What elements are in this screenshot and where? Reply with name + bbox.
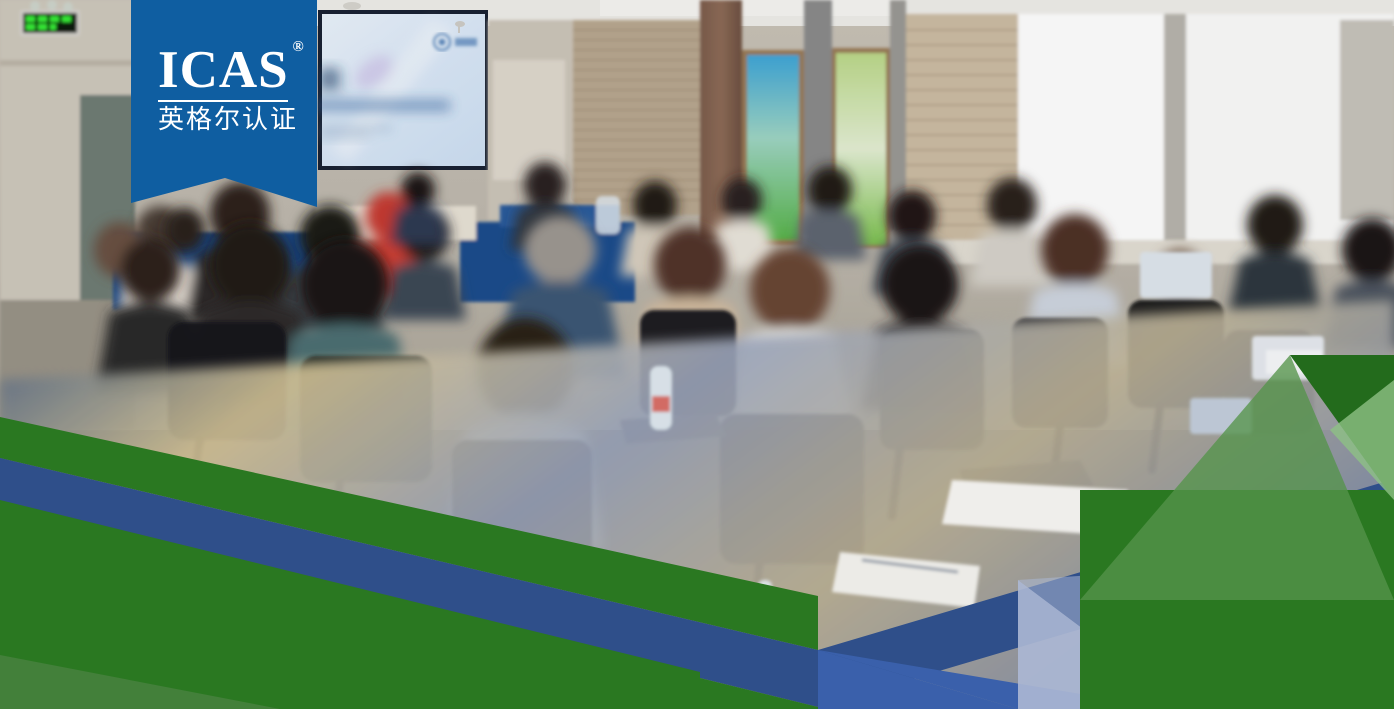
banner-root: 来: [0, 0, 1394, 709]
icas-chinese-name: 英格尔认证: [158, 105, 318, 135]
icas-wordmark: ICAS ®: [158, 44, 289, 97]
icas-logo-lockup[interactable]: ICAS ® 英格尔认证: [158, 44, 318, 144]
icas-wordmark-text: ICAS: [158, 41, 289, 99]
logo-divider-rule: [158, 100, 288, 102]
registered-trademark-icon: ®: [292, 40, 304, 55]
